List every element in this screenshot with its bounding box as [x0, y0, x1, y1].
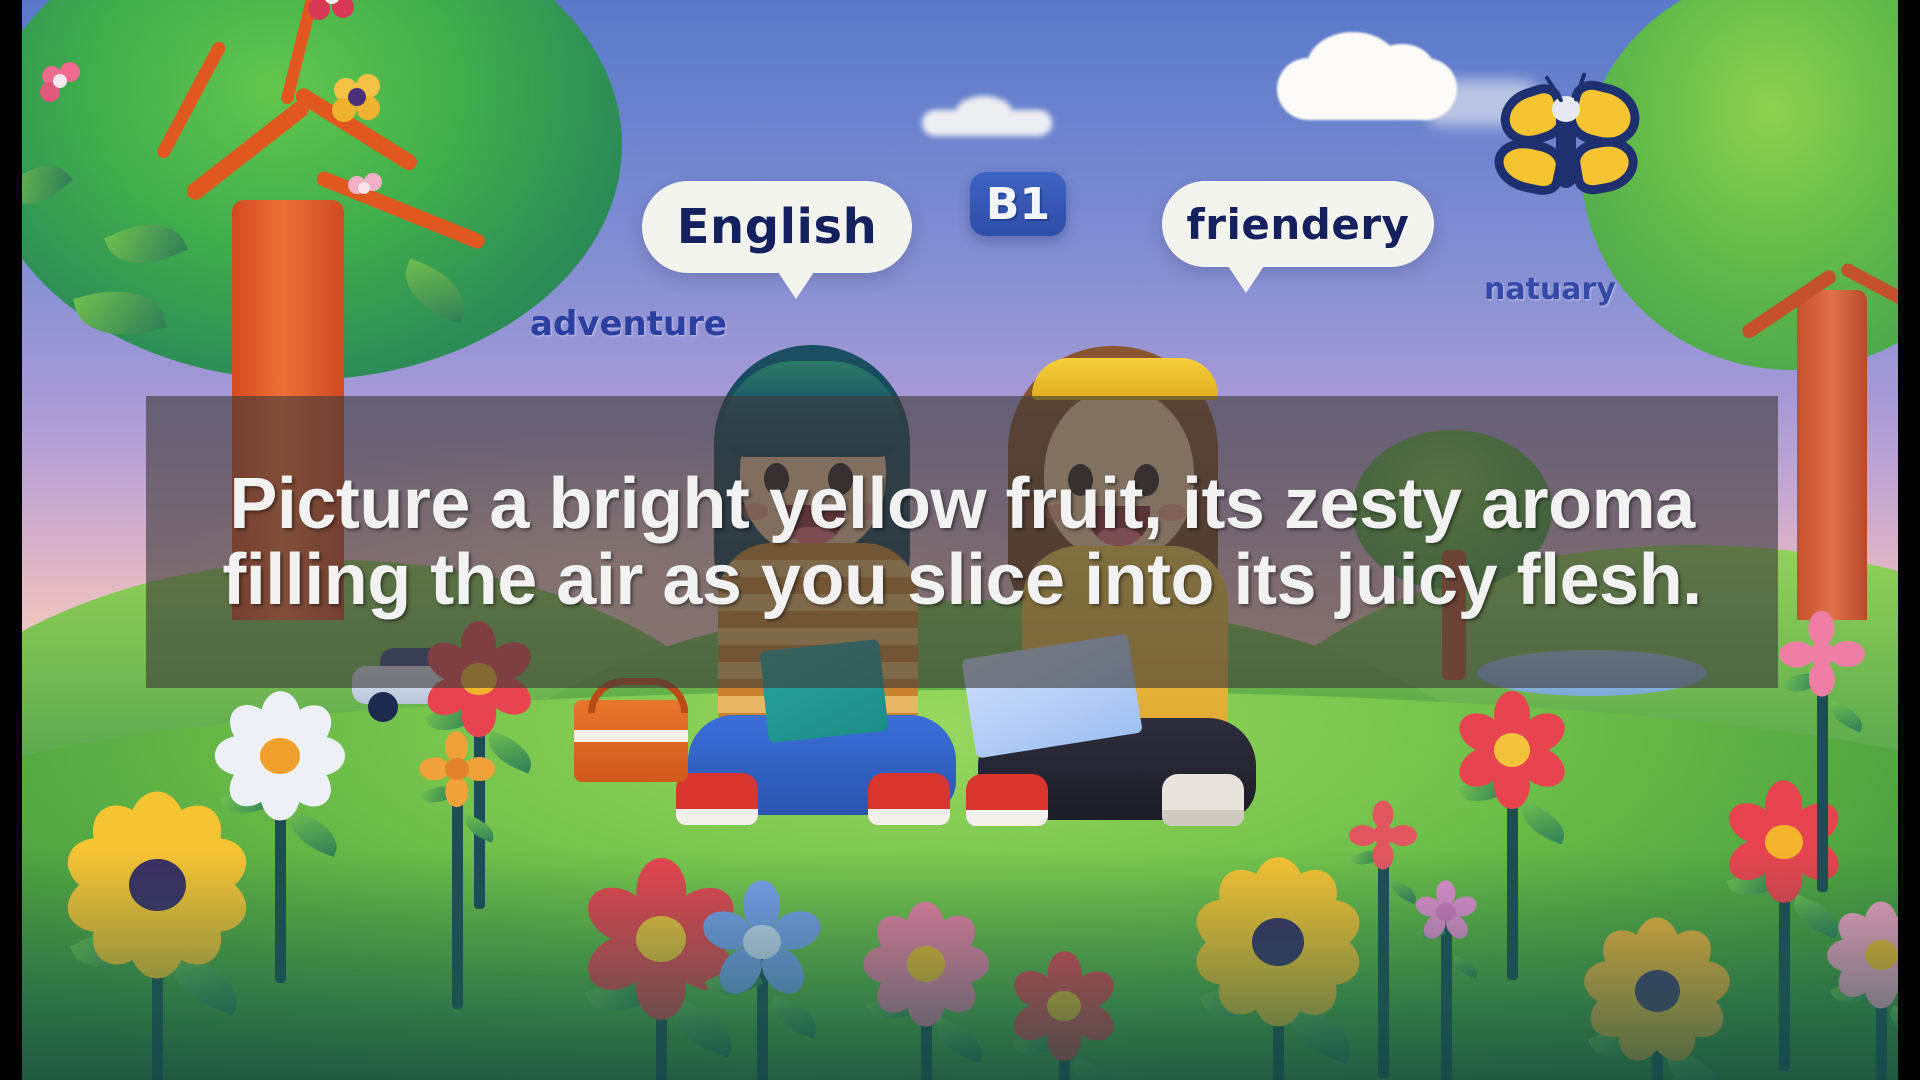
- flower: [1452, 690, 1572, 810]
- satchel-bag: [574, 700, 688, 782]
- flower-core: [1809, 642, 1835, 666]
- flower-core: [260, 738, 300, 774]
- flower-petal: [445, 776, 468, 807]
- butterfly-icon: [1490, 82, 1650, 212]
- subtitle-overlay: Picture a bright yellow fruit, its zesty…: [146, 396, 1778, 688]
- letterbox-bar-left: [0, 0, 22, 1080]
- flower-core: [1494, 733, 1530, 766]
- letterbox-bar-right: [1898, 0, 1920, 1080]
- bubble-tail: [1226, 263, 1266, 293]
- flower: [1778, 610, 1866, 698]
- speech-bubble-english[interactable]: English: [642, 181, 912, 273]
- floating-word-adventure: adventure: [530, 304, 727, 344]
- flower-petal: [1809, 611, 1835, 646]
- cloud-icon: [922, 110, 1052, 136]
- shoe: [676, 773, 758, 825]
- flower-core: [445, 758, 468, 780]
- speech-bubble-label: friendery: [1187, 200, 1410, 249]
- tree-trunk: [1797, 290, 1867, 620]
- scene-illustration: English B1 friendery adventure natuary P…: [22, 0, 1898, 1080]
- flower: [214, 690, 346, 822]
- level-badge[interactable]: B1: [970, 172, 1066, 236]
- video-player-frame: English B1 friendery adventure natuary P…: [0, 0, 1920, 1080]
- speech-bubble-friendery[interactable]: friendery: [1162, 181, 1434, 267]
- speech-bubble-label: English: [677, 199, 877, 255]
- butterfly-wing: [1568, 133, 1642, 198]
- flower: [418, 730, 496, 808]
- subtitle-text: Picture a bright yellow fruit, its zesty…: [172, 466, 1752, 619]
- floating-word-natuary: natuary: [1484, 272, 1616, 307]
- flower-core: [1373, 825, 1394, 844]
- flower-petal: [464, 757, 495, 780]
- headband: [1032, 358, 1218, 400]
- flower-petal: [1830, 641, 1865, 667]
- shoe: [966, 774, 1048, 826]
- lawn-shadow: [22, 850, 1898, 1080]
- shoe: [1162, 774, 1244, 826]
- level-badge-label: B1: [986, 179, 1050, 230]
- bubble-tail: [776, 269, 816, 299]
- flower-petal: [1809, 662, 1835, 697]
- shoe: [868, 773, 950, 825]
- car-wheel: [368, 692, 398, 722]
